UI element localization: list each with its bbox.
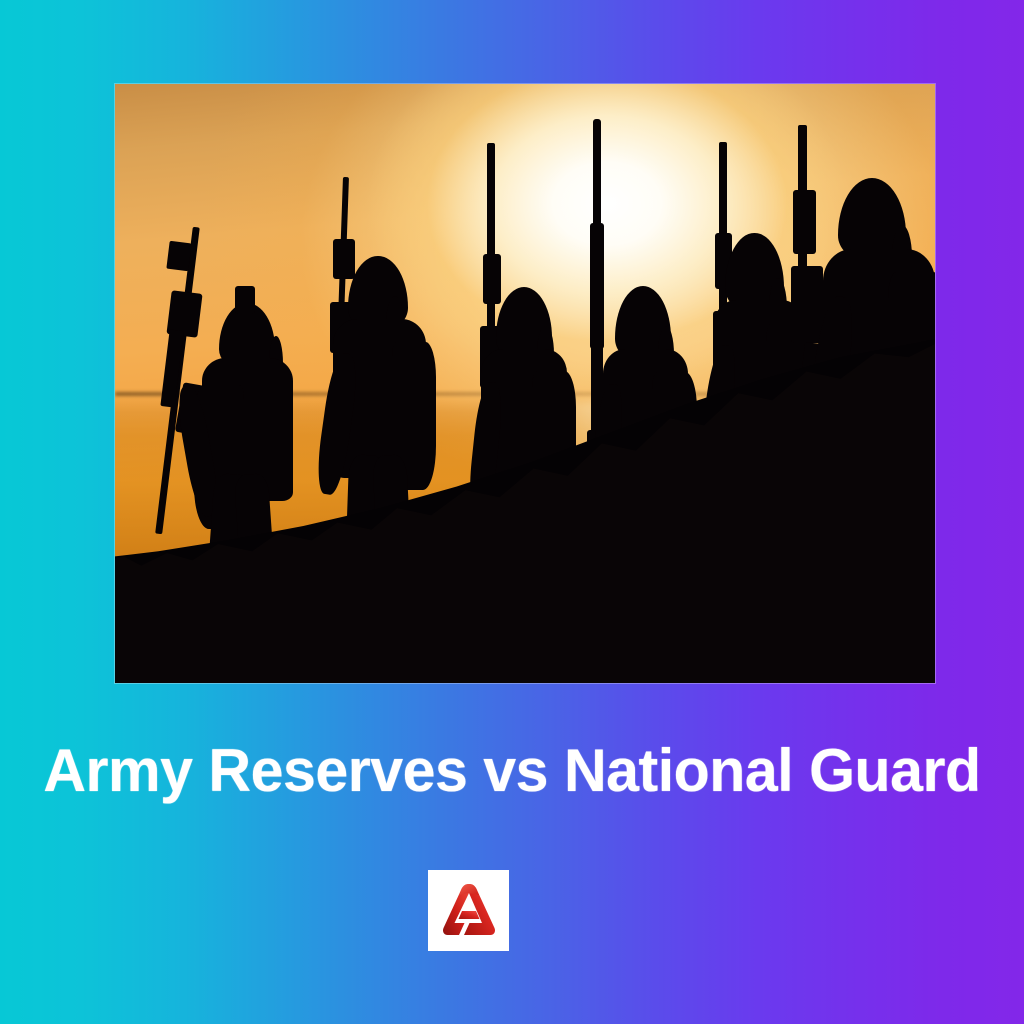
rifle-part (483, 254, 501, 304)
stylized-letter-a-icon (438, 880, 500, 942)
hero-photo-frame (115, 84, 935, 683)
rifle-part (166, 241, 191, 271)
soldiers-silhouette-photo (115, 84, 935, 683)
rifle-part (793, 190, 816, 255)
page-title: Army Reserves vs National Guard (8, 726, 1017, 816)
rifle-part (590, 223, 605, 350)
rifle-part (791, 266, 823, 342)
rifle-part (333, 239, 355, 279)
poster-canvas: Army Reserves vs National Guard (0, 0, 1024, 1024)
rifle-silhouette-4 (593, 119, 602, 234)
helmet-detail-1 (235, 286, 255, 314)
brand-logo (428, 870, 509, 951)
